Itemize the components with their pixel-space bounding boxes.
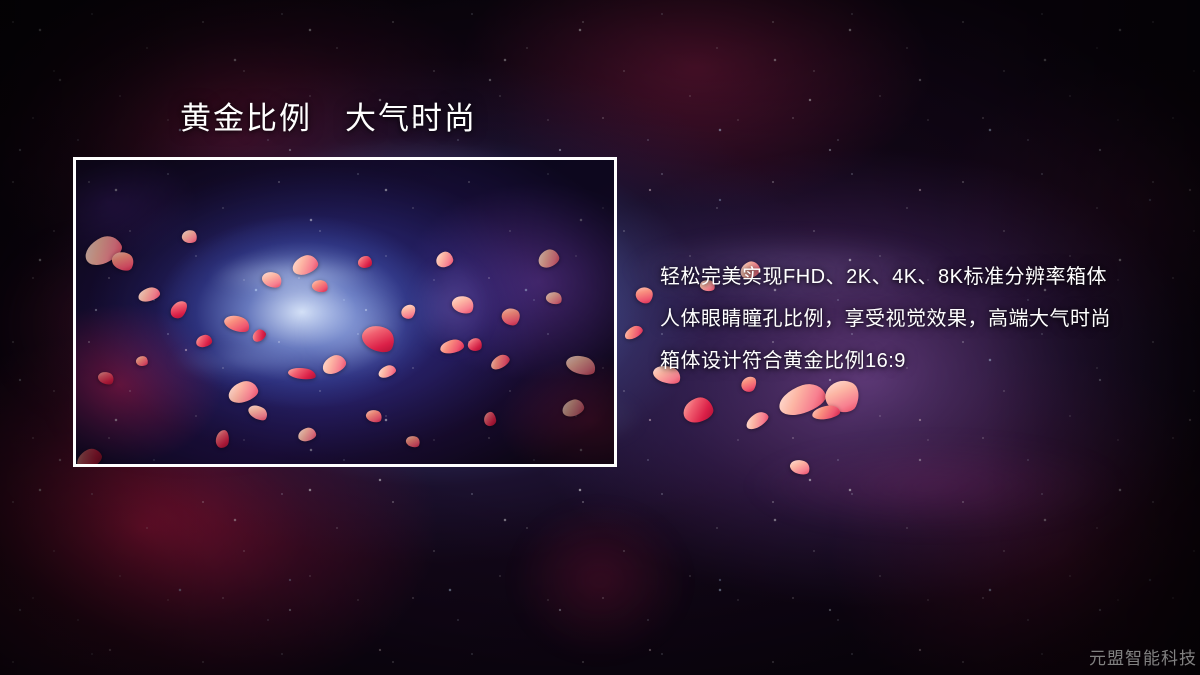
body-line: 轻松完美实现FHD、2K、4K、8K标准分辨率箱体 (660, 256, 1160, 298)
slide-title: 黄金比例 大气时尚 (180, 100, 477, 139)
body-line: 箱体设计符合黄金比例16:9 (660, 340, 1160, 382)
body-text-block: 轻松完美实现FHD、2K、4K、8K标准分辨率箱体 人体眼睛瞳孔比例，享受视觉效… (660, 256, 1160, 382)
framed-photo (73, 157, 617, 467)
photo-vignette (76, 160, 614, 464)
presentation-slide: 黄金比例 大气时尚 轻松完美实现FHD、2K、4K、8K标准分辨率箱体 人体眼睛… (0, 0, 1200, 675)
body-line: 人体眼睛瞳孔比例，享受视觉效果，高端大气时尚 (660, 298, 1160, 340)
watermark: 元盟智能科技 (1089, 644, 1197, 669)
